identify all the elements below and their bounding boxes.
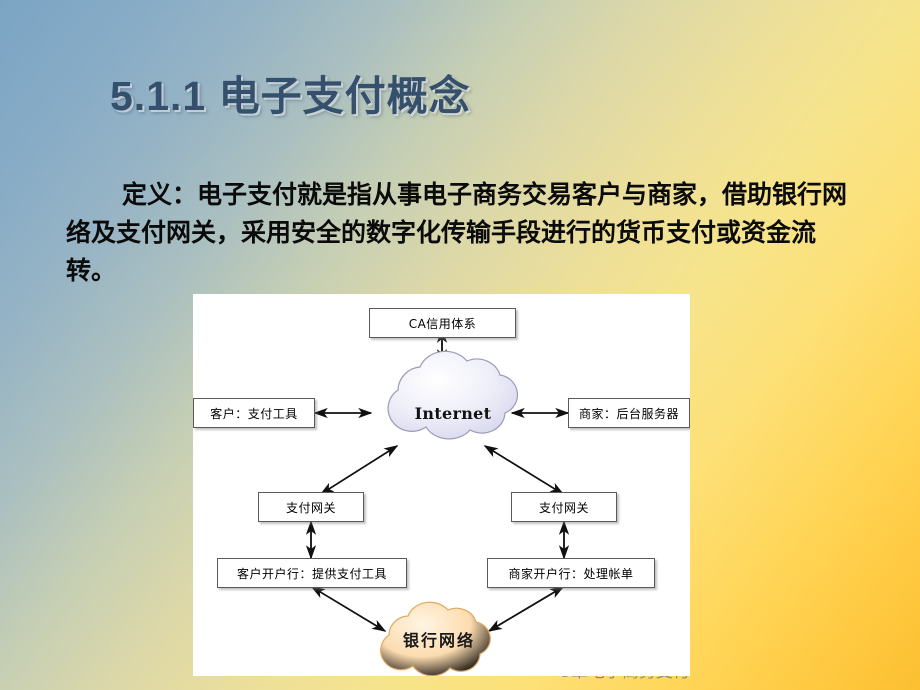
node-payment-gateway-right[interactable]: 支付网关 [511,492,617,522]
diagram-connectors-layer [193,294,690,676]
payment-architecture-diagram: Internet 银行网络 CA信用体系 客户：支付工具 商家：后台服务器 支付… [193,294,690,676]
connector-gateway-left-internet [321,446,397,494]
presentation-slide: 5.1.1 电子支付概念 定义：电子支付就是指从事电子商务交易客户与商家，借助银… [0,0,920,690]
connector-gateway-right-internet [485,446,563,494]
internet-cloud-shape [388,351,517,439]
node-merchant-backend-server[interactable]: 商家：后台服务器 [568,398,690,428]
node-payment-gateway-left[interactable]: 支付网关 [258,492,364,522]
node-merchant-bank[interactable]: 商家开户行：处理帐单 [487,558,655,588]
page-title: 5.1.1 电子支付概念 [110,62,471,122]
node-ca-trust-system[interactable]: CA信用体系 [369,308,516,338]
bank-network-cloud-shape [381,602,491,676]
connector-customer-bank-network [312,587,385,631]
node-customer-bank[interactable]: 客户开户行：提供支付工具 [217,558,407,588]
node-customer-payment-tool[interactable]: 客户：支付工具 [193,398,315,428]
definition-paragraph: 定义：电子支付就是指从事电子商务交易客户与商家，借助银行网络及支付网关，采用安全… [66,176,856,290]
connector-merchant-bank-network [489,587,563,631]
